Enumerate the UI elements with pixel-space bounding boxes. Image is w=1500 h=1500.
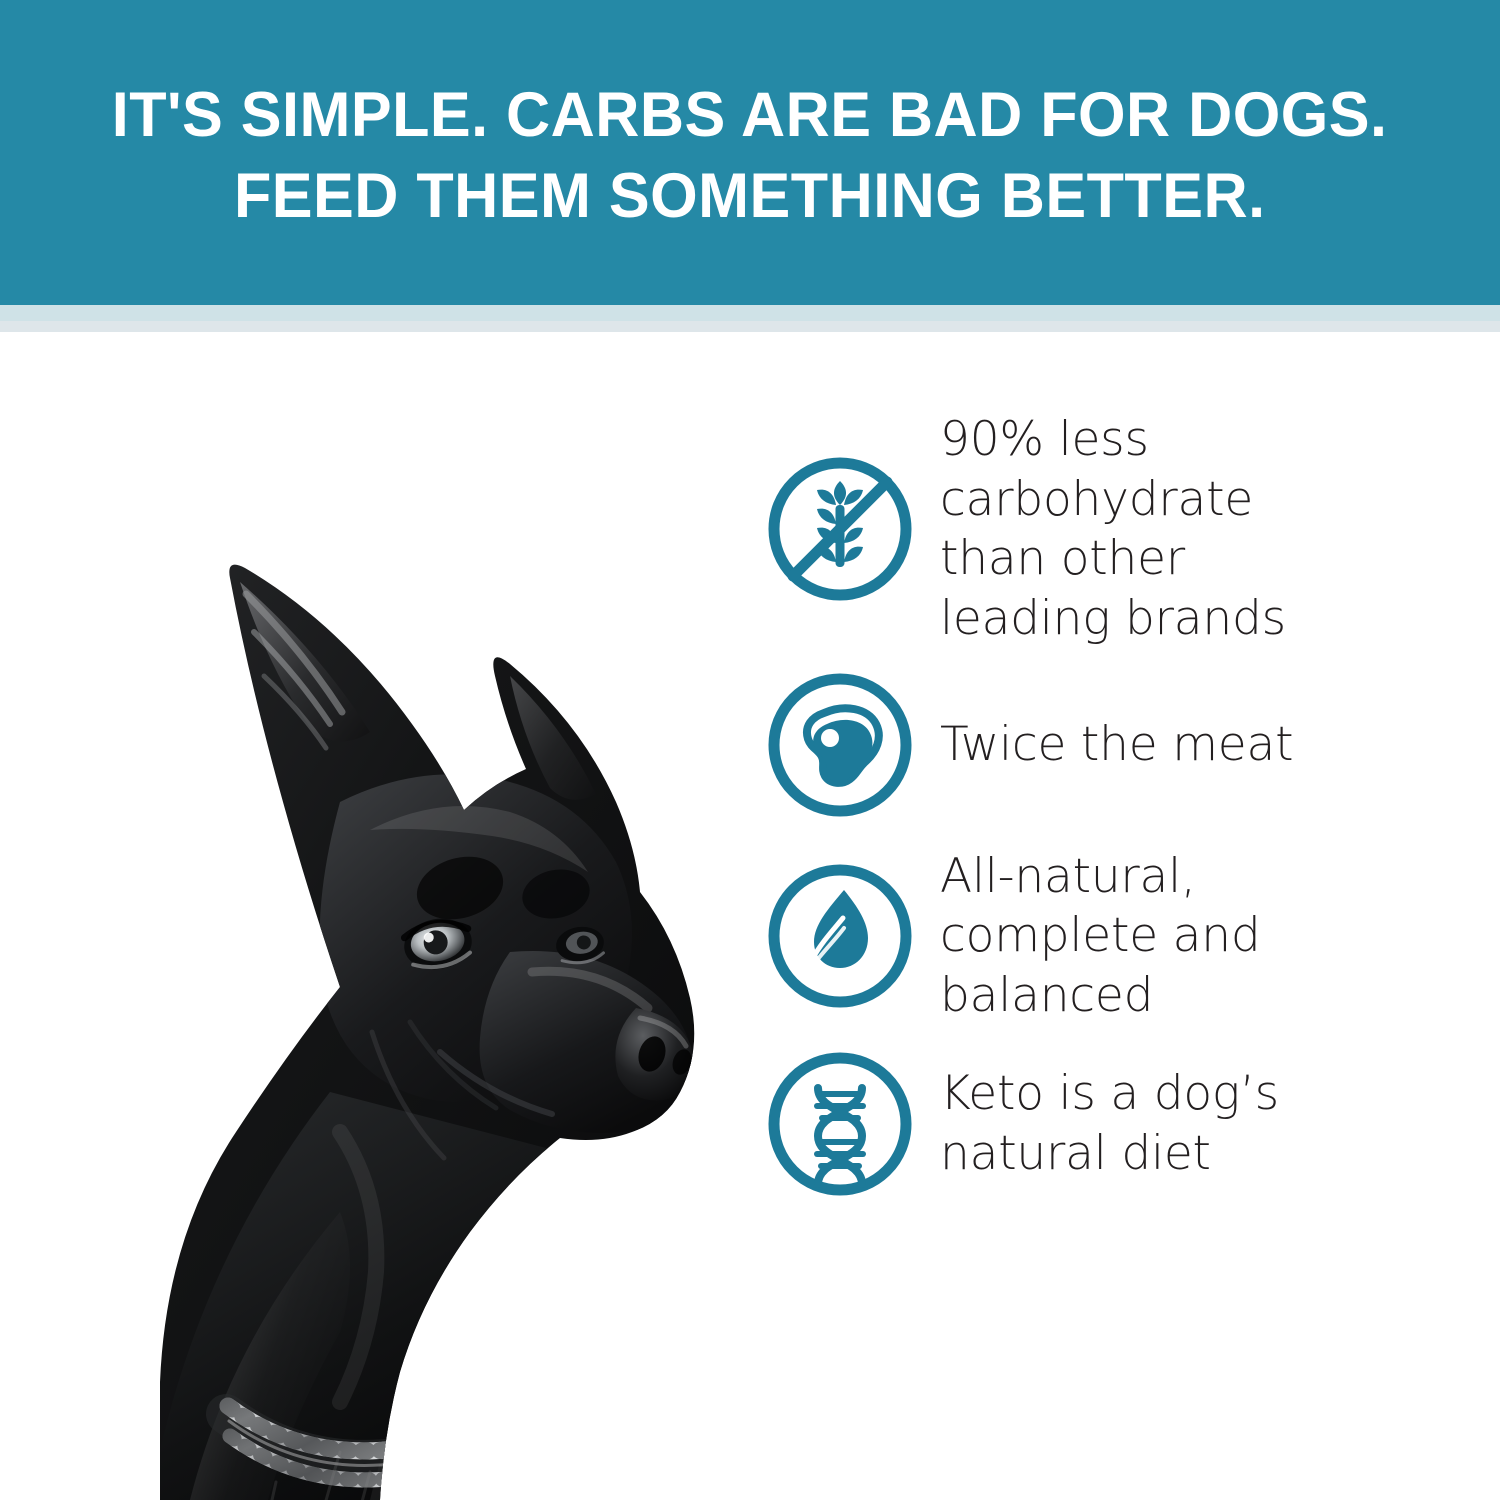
dna-helix-icon [760,1044,920,1204]
separator-band-lower [0,321,1500,332]
dog-photo [40,332,760,1500]
benefits-list: 90% less carbohydrate than other leading… [760,410,1460,1204]
separator-band-upper [0,305,1500,321]
benefit-label-no-grain: 90% less carbohydrate than other leading… [940,410,1360,649]
main-content: 90% less carbohydrate than other leading… [0,332,1500,1500]
header-banner: IT'S SIMPLE. CARBS ARE BAD FOR DOGS. FEE… [0,0,1500,305]
benefit-label-meat: Twice the meat [940,715,1360,775]
headline-line-1: IT'S SIMPLE. CARBS ARE BAD FOR DOGS. [112,75,1388,156]
no-grain-icon [760,449,920,609]
leaf-icon [760,856,920,1016]
benefit-row-keto: Keto is a dog’s natural diet [760,1044,1460,1204]
benefit-label-natural: All-natural, complete and balanced [940,847,1360,1026]
benefit-label-keto: Keto is a dog’s natural diet [940,1064,1360,1183]
benefit-row-natural: All-natural, complete and balanced [760,847,1460,1026]
headline-line-2: FEED THEM SOMETHING BETTER. [234,156,1266,237]
infographic-page: IT'S SIMPLE. CARBS ARE BAD FOR DOGS. FEE… [0,0,1500,1500]
benefit-row-meat: Twice the meat [760,665,1460,825]
benefit-row-no-grain: 90% less carbohydrate than other leading… [760,410,1460,649]
meat-steak-icon [760,665,920,825]
